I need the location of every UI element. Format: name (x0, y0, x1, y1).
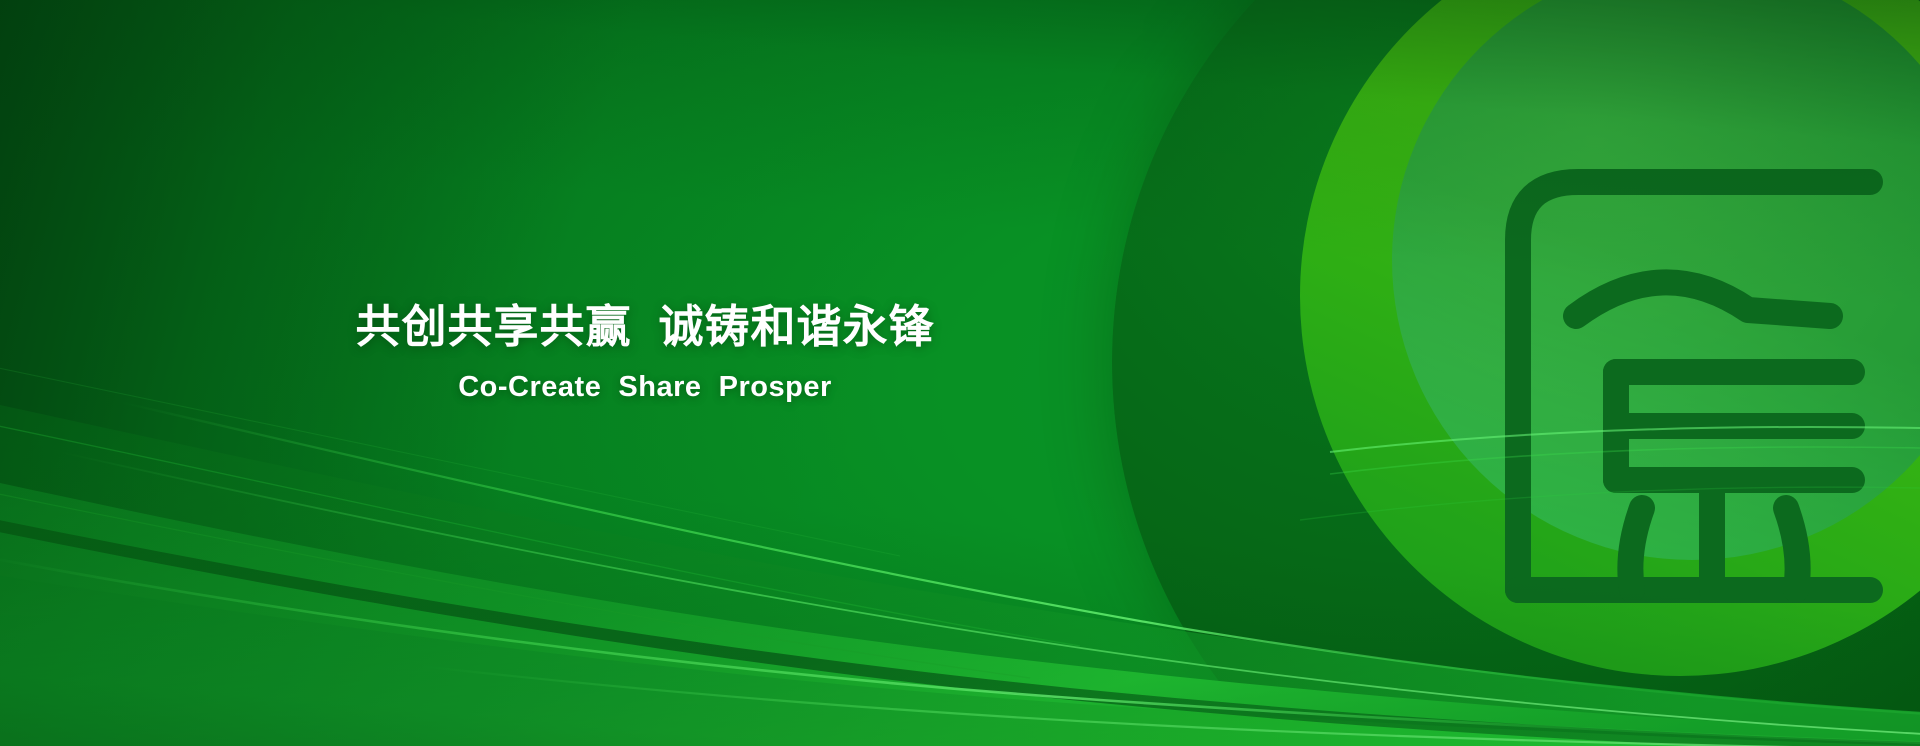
banner-subtitle: Co-Create Share Prosper (0, 371, 1290, 404)
hero-banner: 共创共享共赢 诚铸和谐永锋 Co-Create Share Prosper (0, 0, 1920, 746)
slogan-block: 共创共享共赢 诚铸和谐永锋 Co-Create Share Prosper (0, 300, 1290, 404)
banner-headline: 共创共享共赢 诚铸和谐永锋 (0, 300, 1290, 355)
